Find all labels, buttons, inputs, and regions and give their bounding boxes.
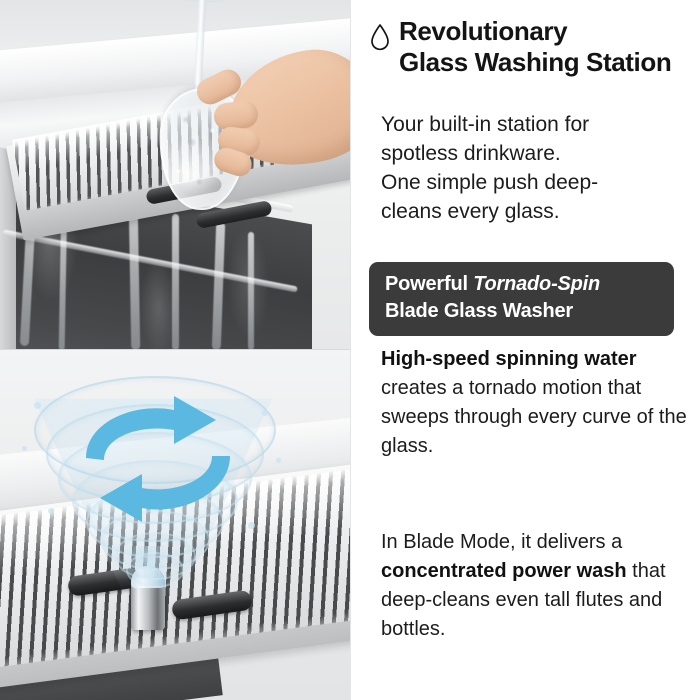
badge-prefix: Powerful	[385, 273, 473, 295]
intro-line-3: One simple push deep-	[381, 171, 598, 194]
tornado-spin-vortex-photo	[0, 349, 350, 700]
water-droplet	[34, 402, 41, 409]
intro-line-4: cleans every glass.	[381, 200, 560, 223]
badge-line-2: Blade Glass Washer	[385, 300, 573, 322]
page-title: Revolutionary Glass Washing Station	[399, 16, 671, 78]
water-stream	[172, 214, 179, 349]
paragraph-2-lead: In Blade Mode, it delivers a	[381, 531, 622, 553]
water-droplet	[48, 508, 54, 514]
intro-line-2: spotless drinkware.	[381, 142, 561, 165]
water-stream	[248, 232, 254, 349]
rotation-arrow-counterclockwise-icon	[58, 388, 258, 578]
photo-column	[0, 0, 350, 700]
headline-line-2: Glass Washing Station	[399, 47, 671, 78]
water-droplet	[262, 410, 268, 416]
water-droplet	[276, 458, 281, 463]
headline-block: Revolutionary Glass Washing Station	[369, 16, 689, 78]
water-droplet	[248, 522, 255, 529]
product-infographic: Revolutionary Glass Washing Station Your…	[0, 0, 700, 700]
paragraph-2-bold: concentrated power wash	[381, 560, 627, 582]
paragraph-1-bold-lead: High-speed spinning water	[381, 348, 637, 370]
water-drop-icon	[369, 23, 391, 51]
badge-emphasis: Tornado-Spin	[473, 273, 600, 295]
intro-paragraph: Your built-in station for spotless drink…	[381, 110, 691, 226]
intro-line-1: Your built-in station for	[381, 113, 589, 136]
water-droplet	[22, 446, 27, 451]
text-column: Revolutionary Glass Washing Station Your…	[350, 0, 700, 700]
water-vortex	[28, 370, 278, 600]
paragraph-tornado-motion: High-speed spinning water creates a torn…	[381, 345, 691, 461]
feature-badge: Powerful Tornado-Spin Blade Glass Washer	[369, 262, 674, 336]
paragraph-blade-mode: In Blade Mode, it delivers a concentrate…	[381, 528, 691, 644]
glass-rinser-in-use-photo	[0, 0, 350, 349]
paragraph-1-rest: creates a tornado motion that sweeps thr…	[381, 377, 687, 457]
headline-line-1: Revolutionary	[399, 16, 567, 46]
